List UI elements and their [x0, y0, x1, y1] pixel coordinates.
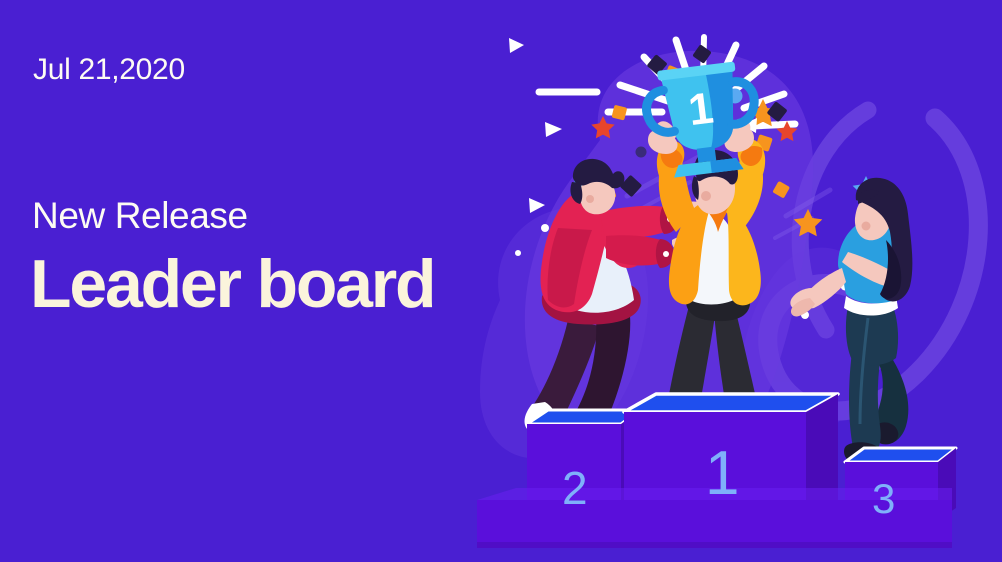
podium-rank-number-3: 3 [872, 478, 895, 520]
date-label: Jul 21,2020 [33, 53, 185, 87]
eyebrow-label: New Release [32, 195, 248, 237]
leaderboard-banner: 1 [0, 0, 1002, 562]
text-layer: Jul 21,2020 New Release Leader board 2 1… [0, 0, 1002, 562]
page-title: Leader board [30, 245, 434, 323]
podium-rank-number-2: 2 [562, 465, 588, 511]
podium-rank-number-1: 1 [705, 443, 739, 505]
